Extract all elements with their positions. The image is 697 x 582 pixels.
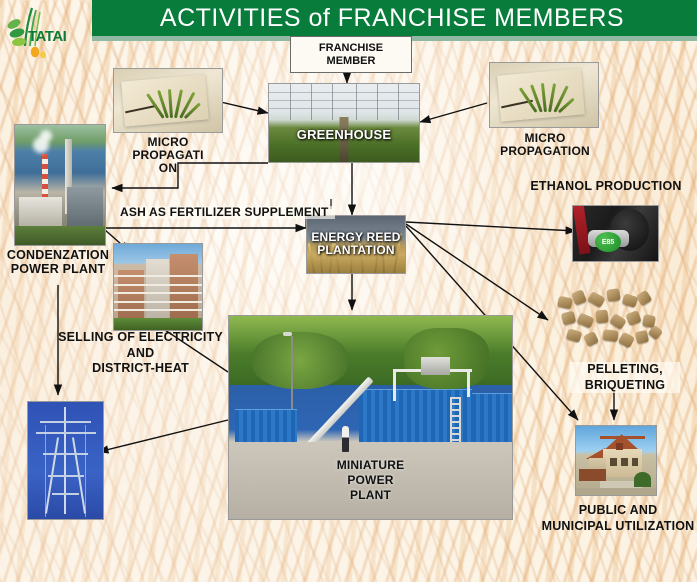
franchise-member-box[interactable]: FRANCHISE MEMBER <box>290 36 412 73</box>
pelleting-briqueting-caption: PELLETING, BRIQUETING <box>570 362 680 393</box>
e85-badge: E85 <box>595 232 621 252</box>
selling-electricity-caption: SELLING OF ELECTRICITY AND DISTRICT-HEAT <box>48 330 233 377</box>
page-title: ACTIVITIES of FRANCHISE MEMBERS <box>92 0 692 36</box>
transmission-tower-photo[interactable] <box>27 401 104 520</box>
slide-canvas: ACTIVITIES of FRANCHISE MEMBERS TATAI <box>0 0 697 582</box>
energy-reed-plantation-photo[interactable]: ENERGY REED PLANTATION <box>306 215 406 274</box>
paper-sheet <box>121 74 209 127</box>
greenhouse-label: GREENHOUSE <box>269 128 419 142</box>
public-municipal-utilization-caption: PUBLIC AND MUNICIPAL UTILIZATION <box>539 503 697 534</box>
ethanol-production-photo[interactable]: E85 <box>572 205 659 262</box>
micro-propagation-right-caption: MICRO PROPAGATION <box>480 132 610 158</box>
micro-propagation-right-photo[interactable] <box>489 62 599 128</box>
ash-fertilizer-label: ASH AS FERTILIZER SUPPLEMENT <box>120 206 335 219</box>
car-body <box>573 205 591 254</box>
ethanol-production-caption: ETHANOL PRODUCTION <box>516 180 696 194</box>
miniature-power-plant-photo[interactable]: MINIATURE POWER PLANT <box>228 315 513 520</box>
franchise-member-label: FRANCHISE MEMBER <box>319 42 383 67</box>
micro-propagation-left-caption: MICRO PROPAGATI ON <box>113 136 223 175</box>
micro-propagation-left-photo[interactable] <box>113 68 223 133</box>
logo-text: TATAI <box>28 28 66 45</box>
tatai-logo: TATAI <box>2 2 90 58</box>
public-municipal-utilization-photo[interactable] <box>575 425 657 496</box>
energy-reed-plantation-label: ENERGY REED PLANTATION <box>307 231 405 257</box>
apartment-building-photo[interactable] <box>113 243 203 331</box>
condenzation-power-plant-photo[interactable] <box>14 124 106 246</box>
greenhouse-photo[interactable]: GREENHOUSE <box>268 83 420 163</box>
wood-pellets-photo[interactable] <box>551 283 663 358</box>
miniature-power-plant-label: MINIATURE POWER PLANT <box>286 458 456 503</box>
condenzation-power-plant-caption: CONDENZATION POWER PLANT <box>0 249 116 276</box>
paper-sheet <box>497 68 585 121</box>
person <box>342 426 349 452</box>
